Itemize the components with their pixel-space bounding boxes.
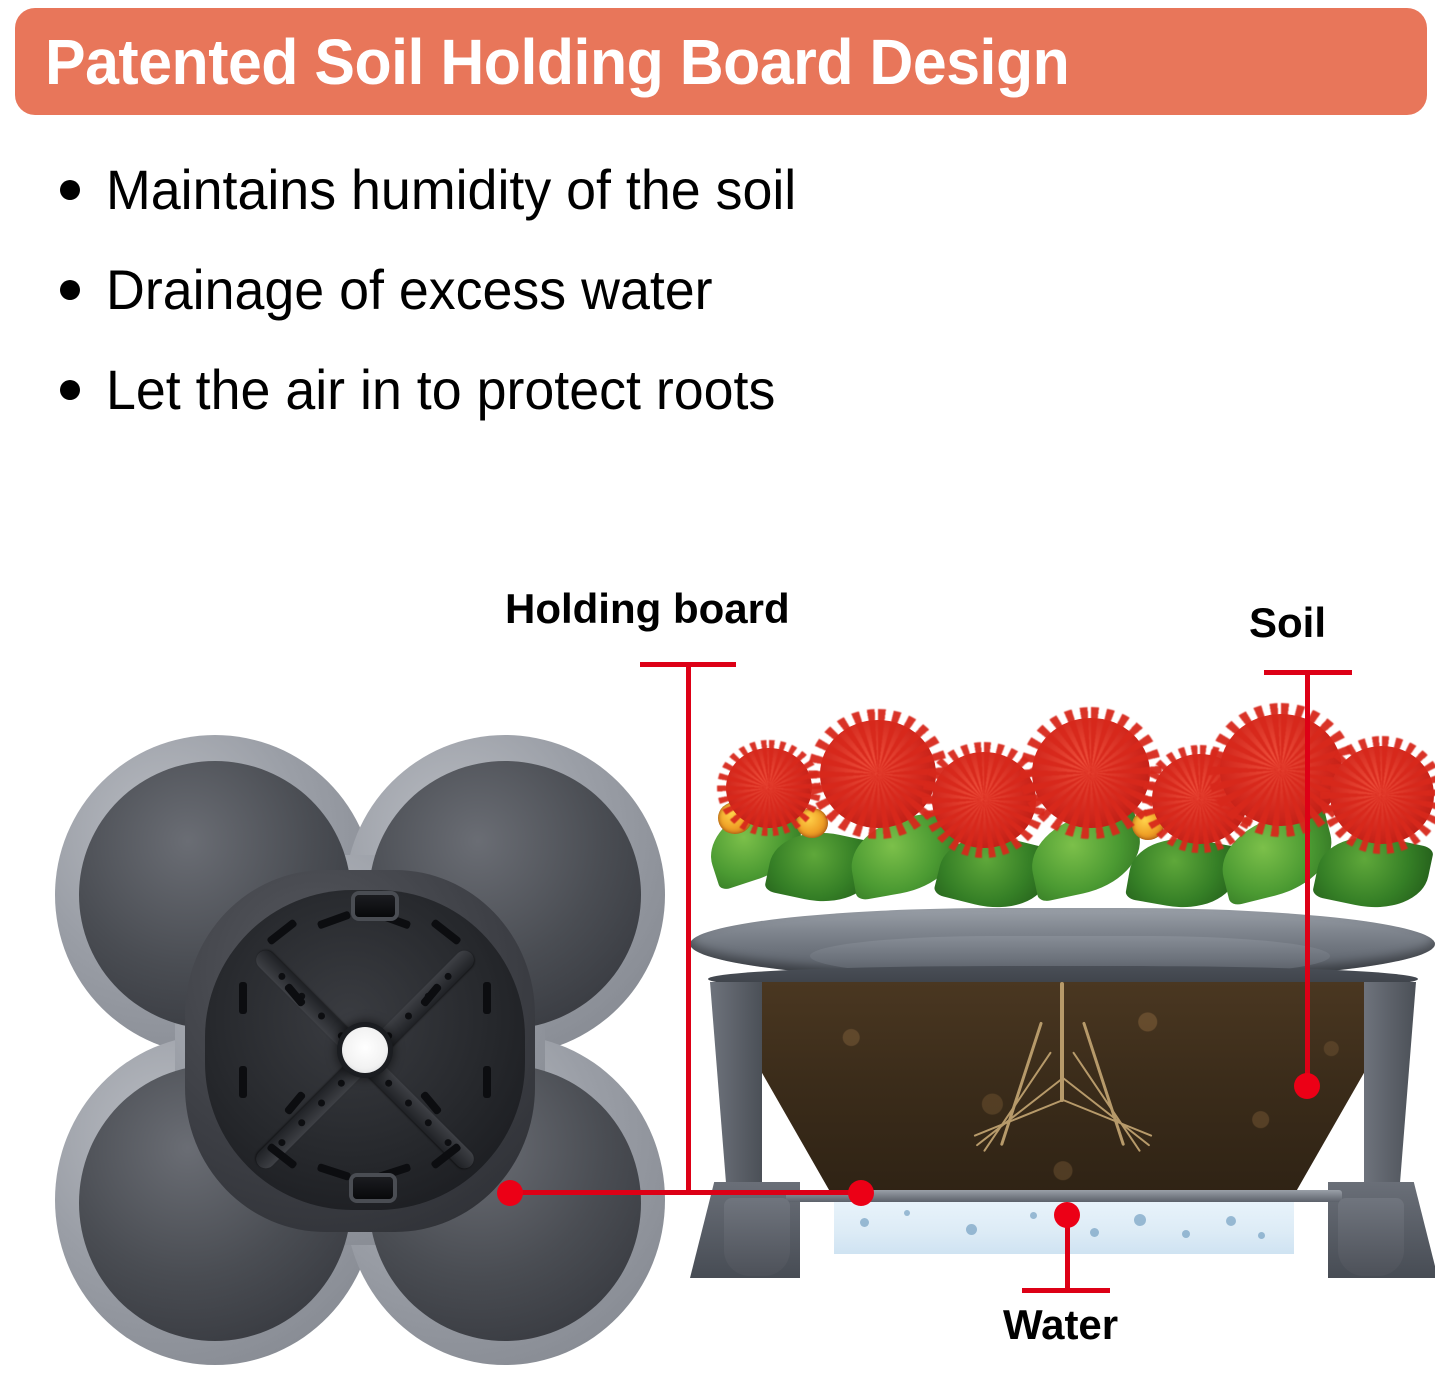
board-clip-vent — [353, 1177, 393, 1199]
feature-text: Maintains humidity of the soil — [106, 162, 796, 218]
page-title: Patented Soil Holding Board Design — [45, 30, 1069, 94]
callout-label-holding-board: Holding board — [505, 588, 790, 630]
board-vent-slot — [483, 982, 491, 1014]
board-vent-slot — [239, 982, 247, 1014]
plant-root — [983, 1051, 1052, 1152]
planter-wall-left — [710, 982, 762, 1204]
plant-root — [974, 1099, 1064, 1137]
water-bubble — [1134, 1214, 1146, 1226]
planter-foot — [724, 1198, 790, 1276]
leader-run-holding-board — [508, 1190, 863, 1195]
leader-dot-water — [1054, 1202, 1080, 1228]
water-bubble — [1090, 1228, 1099, 1237]
plant-root — [1072, 1051, 1141, 1152]
plant-root — [1060, 982, 1064, 1102]
leader-dot-soil — [1294, 1073, 1320, 1099]
water-bubble — [1226, 1216, 1236, 1226]
plant-root — [1082, 1022, 1125, 1147]
chrysanthemum-flowers — [700, 690, 1435, 920]
leader-bar-water — [1022, 1288, 1110, 1293]
header-banner: Patented Soil Holding Board Design — [15, 8, 1427, 115]
water-bubble — [860, 1218, 869, 1227]
board-vent-slot — [317, 910, 352, 929]
board-vent-slot — [483, 1066, 491, 1098]
chrysanthemum-bloom — [726, 748, 812, 828]
leader-line-holding-board — [686, 662, 691, 1192]
water-bubble — [1258, 1232, 1265, 1239]
board-vent-slot — [239, 1066, 247, 1098]
board-rib — [358, 1053, 478, 1173]
leader-dot-holding-board-top-view — [497, 1180, 523, 1206]
board-vent-slot — [430, 918, 462, 945]
leader-line-soil — [1305, 670, 1310, 1088]
list-item: Maintains humidity of the soil — [40, 140, 1140, 240]
leader-dot-holding-board-cross-section — [848, 1180, 874, 1206]
plant-root — [1000, 1022, 1043, 1147]
bullet-point-icon — [60, 380, 80, 400]
bullet-point-icon — [60, 280, 80, 300]
bullet-point-icon — [60, 180, 80, 200]
callout-label-water: Water — [1003, 1304, 1118, 1346]
planter-foot — [1338, 1198, 1404, 1276]
chrysanthemum-bloom — [1330, 746, 1434, 844]
water-bubble — [966, 1224, 977, 1235]
board-rib — [252, 1053, 372, 1173]
list-item: Let the air in to protect roots — [40, 340, 1140, 440]
water-bubble — [1030, 1212, 1037, 1219]
soil-holding-board — [205, 890, 525, 1210]
quatrefoil-planter-top-view — [55, 735, 665, 1375]
chrysanthemum-bloom — [820, 720, 936, 828]
leader-line-water — [1065, 1222, 1070, 1292]
feature-text: Drainage of excess water — [106, 262, 713, 318]
list-item: Drainage of excess water — [40, 240, 1140, 340]
planter-wall-right — [1364, 982, 1416, 1204]
water-bubble — [1182, 1230, 1190, 1238]
feature-text: Let the air in to protect roots — [106, 362, 775, 418]
board-clip-vent — [355, 895, 395, 917]
board-vent-slot — [317, 1163, 352, 1181]
callout-label-soil: Soil — [1249, 602, 1326, 644]
center-drainage-hole — [342, 1027, 388, 1073]
board-vent-slot — [266, 918, 298, 945]
planter-body — [55, 735, 665, 1375]
feature-list: Maintains humidity of the soil Drainage … — [40, 140, 1140, 440]
water-bubble — [904, 1210, 910, 1216]
chrysanthemum-bloom — [1032, 718, 1150, 828]
